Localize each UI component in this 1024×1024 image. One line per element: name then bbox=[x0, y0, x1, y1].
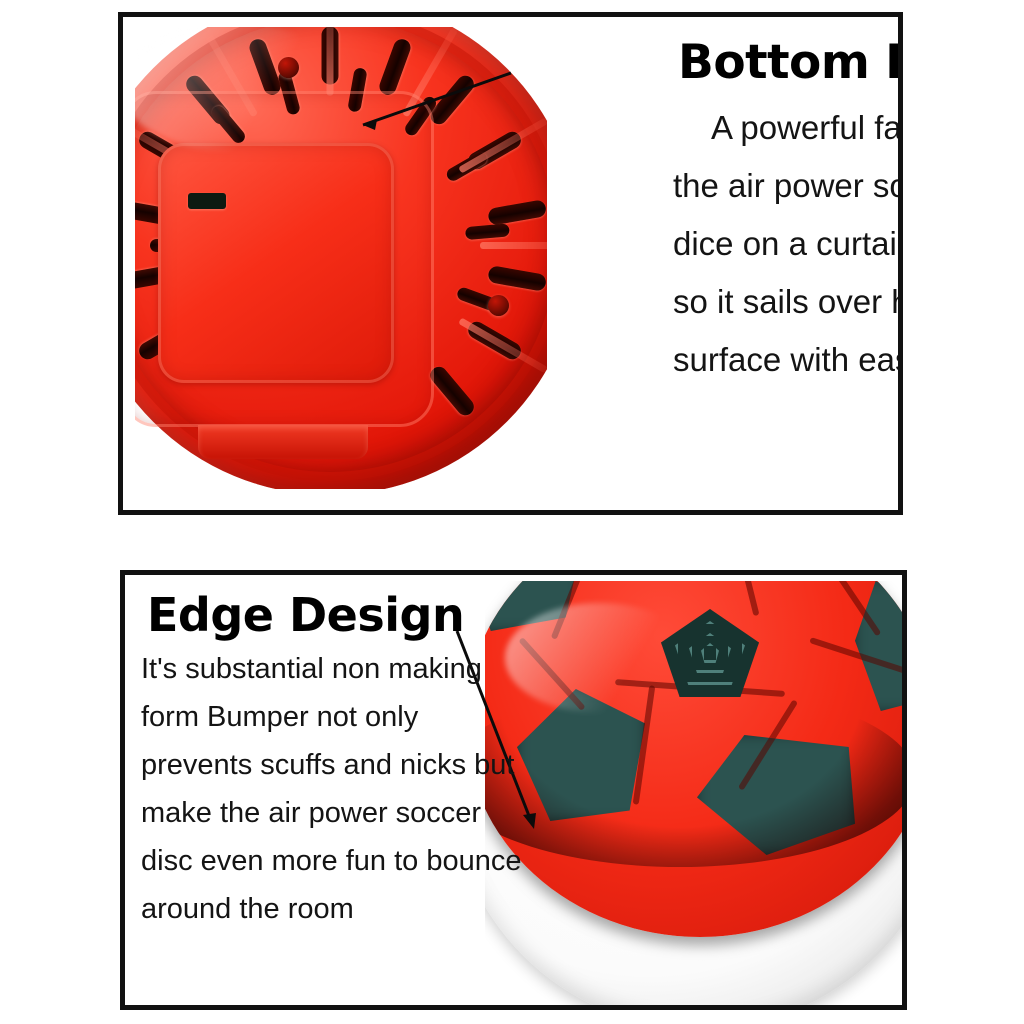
battery-cover-tab bbox=[198, 425, 368, 459]
disc-rib bbox=[327, 27, 334, 96]
battery-cover-plate bbox=[158, 143, 394, 383]
center-fan-vent-icon bbox=[661, 609, 759, 697]
panel-edge-design: Edge Design It's substantial non making … bbox=[120, 570, 907, 1010]
photo-disc-underside bbox=[135, 27, 547, 489]
soccer-pattern-top bbox=[485, 581, 907, 937]
disc-rib bbox=[480, 242, 547, 249]
panel-body-bottom-design: A powerful fan floats the air power socc… bbox=[673, 99, 903, 389]
soccer-facet-dark bbox=[697, 735, 855, 855]
disc-body-shape bbox=[135, 27, 547, 489]
panel-bottom-design: Bottom Design A powerful fan floats the … bbox=[118, 12, 903, 515]
screw-hole-icon bbox=[488, 295, 509, 316]
soccer-facet-dark bbox=[855, 581, 907, 711]
power-switch-slot-icon bbox=[188, 193, 226, 209]
panel-heading-bottom-design: Bottom Design bbox=[678, 39, 903, 86]
soccer-seam bbox=[729, 581, 760, 616]
panel-heading-edge-design: Edge Design bbox=[147, 592, 464, 638]
infographic-canvas: Bottom Design A powerful fan floats the … bbox=[0, 0, 1024, 1024]
photo-soccer-disc bbox=[485, 581, 907, 1009]
screw-hole-icon bbox=[278, 57, 299, 78]
panel-body-edge-design: It's substantial non making form Bumper … bbox=[141, 645, 531, 933]
